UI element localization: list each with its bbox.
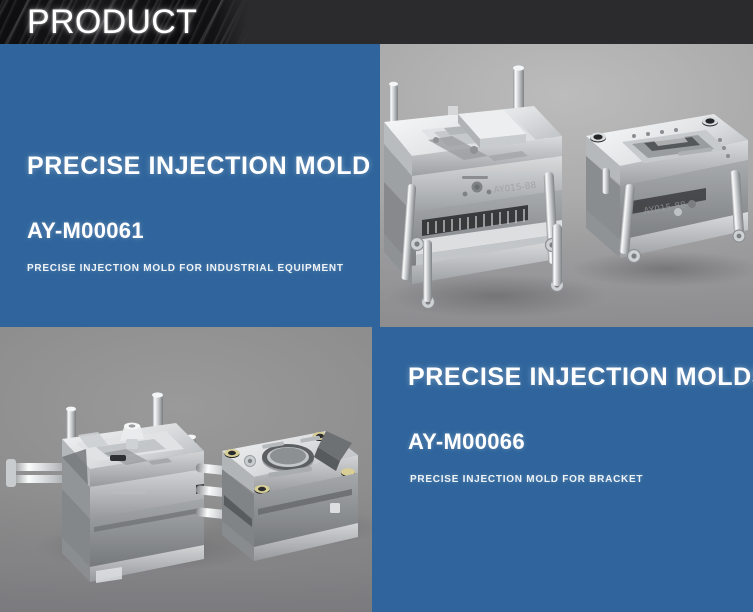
injection-mold-illustration-top-right: AY015-88 — [376, 44, 753, 327]
product-subtitle-top-left: PRECISE INJECTION MOLD FOR INDUSTRIAL EQ… — [27, 263, 344, 274]
injection-mold-illustration-bottom-left — [0, 327, 376, 612]
product-title-top-left: PRECISE INJECTION MOLD — [27, 152, 371, 181]
product-card-top-left[interactable]: PRECISE INJECTION MOLD AY-M00061 PRECISE… — [0, 44, 376, 327]
product-image-top-right[interactable]: AY015-88 — [376, 44, 753, 327]
photo-left-blue-edge — [376, 44, 380, 327]
product-title-bottom-right: PRECISE INJECTION MOLDS — [408, 363, 753, 392]
product-model-bottom-right: AY-M00066 — [408, 429, 525, 455]
product-showcase-page: PRODUCT PRECISE INJECTION MOLD AY-M00061… — [0, 0, 753, 612]
photo-right-blue-edge — [372, 327, 376, 612]
product-image-bottom-left[interactable] — [0, 327, 376, 612]
product-subtitle-bottom-right: PRECISE INJECTION MOLD FOR BRACKET — [410, 474, 643, 485]
product-grid: PRECISE INJECTION MOLD AY-M00061 PRECISE… — [0, 44, 753, 612]
page-title: PRODUCT — [27, 1, 197, 43]
product-card-bottom-right[interactable]: PRECISE INJECTION MOLDS AY-M00066 PRECIS… — [376, 327, 753, 612]
product-model-top-left: AY-M00061 — [27, 218, 144, 244]
page-header: PRODUCT — [0, 0, 753, 44]
